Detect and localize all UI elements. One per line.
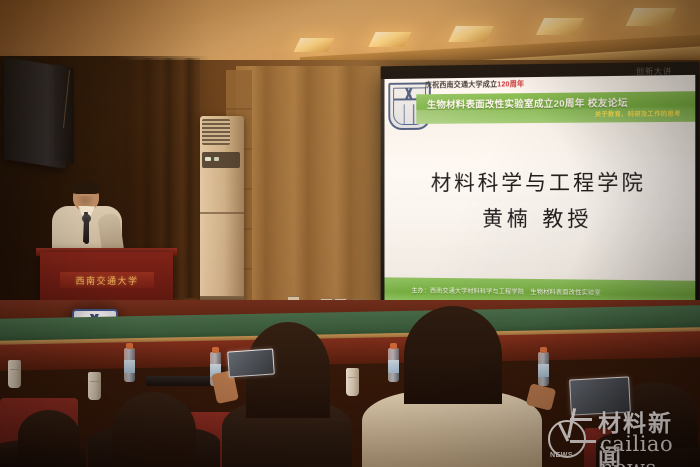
cup-band [90, 381, 99, 382]
slide-header-anniversary: 120周年 [497, 79, 524, 88]
cup-band [10, 369, 19, 370]
dark-device-on-table [146, 376, 210, 386]
slide-footer-text: 主办：西南交通大学材料科学与工程学院 生物材料表面改性实验室 [411, 285, 600, 296]
audience-head [112, 392, 196, 467]
smartphone-held-up [227, 348, 275, 377]
slide-header-small-title: 庆祝西南交通大学成立120周年 [425, 79, 524, 90]
slide-body: 材料科学与工程学院 黄楠 教授 [384, 122, 695, 279]
bottle-label [388, 360, 399, 373]
wall-sign-text: 创新大讲 [636, 66, 698, 77]
logo-news-label: NEWS [550, 452, 573, 459]
slide-title-line-1: 材料科学与工程学院 [431, 167, 646, 197]
audience-head [404, 306, 502, 404]
cup-band [348, 377, 357, 378]
speaker-hair [72, 181, 100, 194]
bottle-label [124, 360, 135, 373]
ac-indicator-light [214, 157, 219, 161]
ac-indicator-light [205, 157, 211, 161]
paper-cup [8, 360, 21, 388]
phone-screen [228, 349, 274, 376]
water-bottle [124, 348, 135, 382]
bottle-cap [212, 347, 219, 353]
slide-header: 庆祝西南交通大学成立120周年 生物材料表面改性实验室成立20周年 校友论坛 关… [384, 75, 695, 124]
ac-grille [202, 119, 230, 145]
bottle-label [538, 364, 549, 377]
podium-name-plate: 西南交通大学 [60, 272, 154, 288]
lecture-hall-photo: 庆祝西南交通大学成立120周年 生物材料表面改性实验室成立20周年 校友论坛 关… [0, 0, 700, 467]
news-logo-icon: NEWS [548, 406, 594, 454]
paper-cup [88, 372, 101, 400]
slide-header-subtitle: 关于教育、科研及工作的思考 [595, 109, 681, 119]
water-bottle [538, 352, 549, 386]
microphone-body [84, 218, 89, 244]
bottle-cap [126, 343, 133, 349]
projection-screen: 庆祝西南交通大学成立120周年 生物材料表面改性实验室成立20周年 校友论坛 关… [381, 62, 700, 315]
bottle-cap [540, 347, 547, 353]
paper-cup [346, 368, 359, 396]
watermark-english-text: cailiao news [600, 432, 696, 467]
audience-head [18, 410, 80, 462]
bottle-cap [390, 343, 397, 349]
presentation-slide: 庆祝西南交通大学成立120周年 生物材料表面改性实验室成立20周年 校友论坛 关… [384, 75, 695, 305]
logo-stroke [570, 418, 592, 421]
ac-seam [200, 212, 244, 214]
watermark: NEWS 材料新闻 cailiao news [548, 400, 696, 460]
water-bottle [388, 348, 399, 382]
logo-stroke [570, 440, 596, 443]
wood-panel-wall [236, 66, 386, 316]
air-conditioner-unit [200, 116, 244, 308]
slide-header-small-text: 庆祝西南交通大学成立 [425, 80, 497, 90]
slide-title-line-2: 黄楠 教授 [482, 203, 592, 233]
podium-plate-text: 西南交通大学 [75, 274, 138, 287]
